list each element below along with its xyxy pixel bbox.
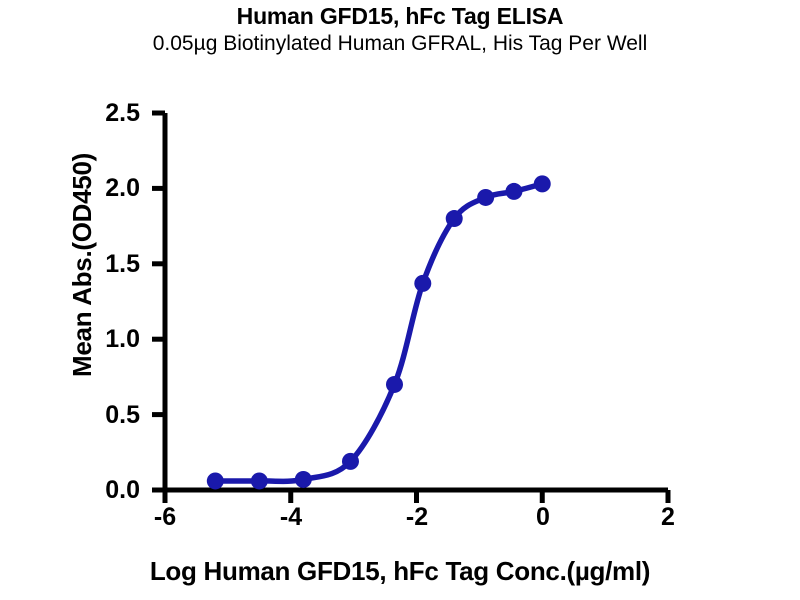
data-point-marker (207, 472, 224, 489)
data-curve (215, 184, 542, 481)
data-point-marker (534, 175, 551, 192)
data-point-marker (342, 453, 359, 470)
elisa-chart-figure: Human GFD15, hFc Tag ELISA 0.05µg Biotin… (0, 0, 800, 600)
data-point-marker (477, 189, 494, 206)
data-point-marker (386, 376, 403, 393)
plot-area (0, 0, 800, 600)
data-point-marker (414, 275, 431, 292)
axes-layer (152, 113, 668, 503)
data-point-marker (505, 183, 522, 200)
data-point-marker (295, 471, 312, 488)
data-series-layer (207, 175, 551, 489)
data-point-marker (251, 472, 268, 489)
data-point-marker (446, 210, 463, 227)
